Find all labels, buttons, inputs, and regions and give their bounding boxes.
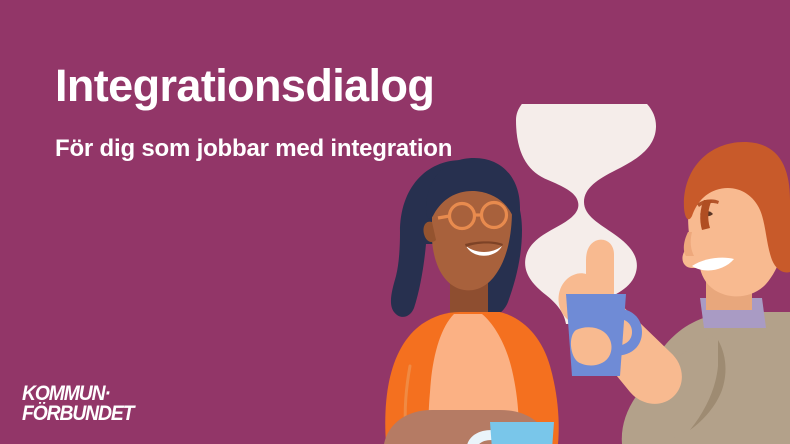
woman-face bbox=[432, 168, 512, 290]
page-subtitle: För dig som jobbar med integration bbox=[55, 135, 525, 163]
man-sleeve bbox=[622, 336, 727, 444]
man-hand bbox=[559, 240, 615, 326]
woman-inner-top bbox=[429, 314, 519, 444]
light-blue-mug bbox=[466, 422, 554, 444]
figure-man bbox=[559, 142, 790, 444]
kommunforbundet-logo[interactable]: KOMMUN· FÖRBUNDET bbox=[22, 384, 182, 428]
man-nose bbox=[684, 232, 694, 256]
man-collar bbox=[700, 298, 766, 328]
promo-banner: Integrationsdialog För dig som jobbar me… bbox=[0, 0, 790, 444]
page-title: Integrationsdialog bbox=[55, 62, 525, 109]
man-hair bbox=[684, 142, 790, 273]
woman-lip bbox=[465, 241, 503, 247]
woman-jacket bbox=[385, 312, 558, 444]
woman-neck bbox=[450, 280, 488, 322]
woman-hair-back bbox=[391, 160, 522, 317]
man-eye bbox=[700, 211, 713, 216]
woman-glasses bbox=[438, 203, 507, 229]
logo-line-one: KOMMUN· bbox=[22, 384, 169, 404]
man-forearm bbox=[570, 286, 682, 404]
blue-mug-handle bbox=[614, 308, 642, 356]
man-smile bbox=[692, 258, 734, 271]
man-jacket bbox=[640, 312, 790, 444]
man-sideburn bbox=[700, 200, 712, 230]
woman-jacket-fold bbox=[405, 366, 410, 434]
man-sleeve-shadow bbox=[690, 340, 725, 430]
light-blue-mug-handle bbox=[466, 430, 492, 444]
woman-ear bbox=[423, 222, 436, 242]
man-fingers-over-mug bbox=[571, 327, 612, 365]
blue-mug-body bbox=[566, 294, 626, 376]
man-neck bbox=[706, 270, 752, 310]
man-eyebrow bbox=[697, 199, 719, 207]
man-face bbox=[682, 158, 788, 296]
blue-mug bbox=[566, 294, 642, 376]
light-blue-mug-body bbox=[490, 422, 554, 444]
woman-arm bbox=[384, 410, 550, 444]
glasses-lens-right bbox=[482, 203, 507, 228]
woman-smile bbox=[466, 246, 502, 256]
steam-shape bbox=[516, 104, 656, 324]
figure-woman bbox=[384, 158, 559, 444]
woman-hair-front bbox=[426, 158, 520, 226]
heading-block: Integrationsdialog För dig som jobbar me… bbox=[55, 62, 525, 163]
glasses-temple bbox=[438, 216, 450, 218]
glasses-lens-left bbox=[450, 204, 475, 229]
logo-line-two: FÖRBUNDET bbox=[22, 404, 169, 424]
